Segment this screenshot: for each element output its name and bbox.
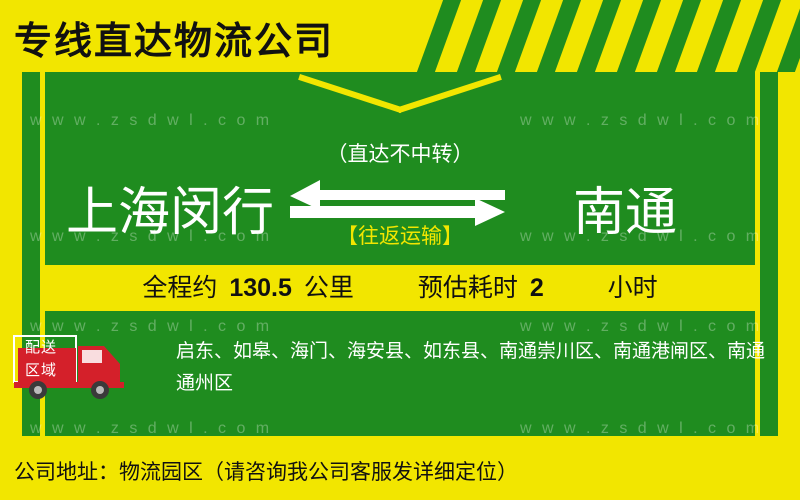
- delivery-area-block: 配送区域: [12, 330, 162, 405]
- frame-bar-right: [778, 72, 800, 440]
- distance-label: 全程约: [142, 274, 217, 302]
- header-band: 专线直达物流公司: [0, 0, 800, 72]
- header-stripe-5: [577, 0, 621, 72]
- watermark-6: w w w . z s d w l . c o m: [520, 318, 762, 336]
- footer-address: 公司地址：物流园区（请咨询我公司客服发详细定位）: [14, 456, 518, 486]
- delivery-area-badge: 配送区域: [18, 336, 64, 382]
- footer-address-label: 公司地址：: [14, 461, 119, 484]
- route-note-roundtrip: 【往返运输】: [300, 220, 500, 250]
- stats-band: 全程约130.5公里 预估耗时2 小时: [45, 265, 755, 311]
- header-stripe-1: [417, 0, 461, 72]
- chevron-decoration: [310, 74, 490, 108]
- header-stripe-7: [657, 0, 701, 72]
- footer-band: 公司地址：物流园区（请咨询我公司客服发详细定位）: [0, 440, 800, 500]
- footer-address-value: 物流园区（请咨询我公司客服发详细定位）: [119, 461, 518, 484]
- header-stripe-2: [457, 0, 501, 72]
- duration-unit: 小时: [608, 274, 658, 302]
- duration-label: 预估耗时: [418, 274, 518, 302]
- route-note-direct: （直达不中转）: [300, 138, 500, 168]
- distance-unit: 公里: [304, 274, 354, 302]
- watermark-1: w w w . z s d w l . c o m: [30, 112, 272, 130]
- distance-value: 130.5: [229, 274, 292, 302]
- header-stripe-3: [497, 0, 541, 72]
- stats-text: 全程约130.5公里 预估耗时2 小时: [45, 265, 755, 311]
- header-stripe-10: [777, 0, 800, 72]
- header-stripe-4: [537, 0, 581, 72]
- logistics-banner: 专线直达物流公司 w w w . z s d w l . c o m w w w…: [0, 0, 800, 500]
- destination-city: 南通: [495, 170, 755, 245]
- watermark-2: w w w . z s d w l . c o m: [520, 112, 762, 130]
- origin-city: 上海闵行: [40, 170, 300, 245]
- header-stripe-6: [617, 0, 661, 72]
- coverage-cities: 启东、如皋、海门、海安县、如东县、南通崇川区、南通港闸区、南通通州区: [176, 336, 772, 400]
- page-title: 专线直达物流公司: [14, 10, 334, 65]
- header-stripe-9: [737, 0, 781, 72]
- duration-value: 2: [530, 274, 544, 302]
- header-stripe-8: [697, 0, 741, 72]
